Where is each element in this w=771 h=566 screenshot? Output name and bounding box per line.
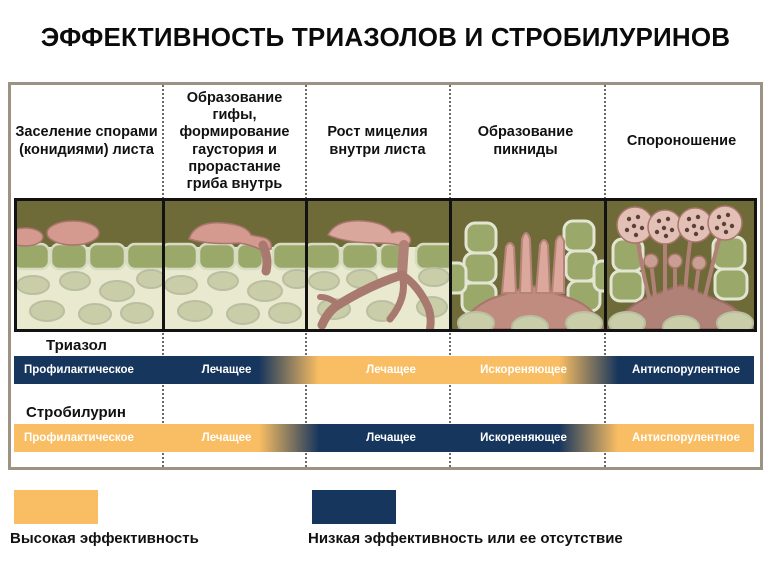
leaf-illustration-strip (14, 198, 757, 332)
segment-strobilurin-2: Лечащее (176, 424, 319, 452)
segment-strobilurin-5-label: Антиспорулентное (632, 432, 740, 444)
effect-bar-triazol: Профилактическое Лечащее Лечащее Искорен… (14, 356, 754, 384)
stage-header-1: Заселение спорами (конидиями) листа (11, 85, 162, 198)
segment-strobilurin-3: Лечащее (319, 424, 463, 452)
segment-triazol-2-label: Лечащее (202, 364, 252, 376)
segment-strobilurin-1: Профилактическое (14, 424, 176, 452)
segment-strobilurin-4: Искореняющее (463, 424, 618, 452)
segment-triazol-4-label: Искореняющее (480, 364, 567, 376)
segment-strobilurin-5: Антиспорулентное (618, 424, 754, 452)
segment-triazol-3: Лечащее (319, 356, 463, 384)
segment-triazol-3-label: Лечащее (366, 364, 416, 376)
stage-header-4: Образование пикниды (450, 85, 601, 198)
segment-strobilurin-3-label: Лечащее (366, 432, 416, 444)
segment-triazol-1: Профилактическое (14, 356, 176, 384)
legend-swatch-low (312, 490, 396, 524)
segment-triazol-5-label: Антиспорулентное (632, 364, 740, 376)
legend-label-low: Низкая эффективность или ее отсутствие (308, 530, 623, 547)
segment-triazol-2: Лечащее (176, 356, 319, 384)
illustration-stage-3 (308, 201, 452, 329)
illustration-stage-1 (17, 201, 165, 329)
legend-swatch-high (14, 490, 98, 524)
page-title: ЭФФЕКТИВНОСТЬ ТРИАЗОЛОВ И СТРОБИЛУРИНОВ (0, 22, 771, 53)
segment-strobilurin-1-label: Профилактическое (24, 432, 134, 444)
legend-label-high: Высокая эффективность (10, 530, 199, 547)
effect-bar-strobilurin: Профилактическое Лечащее Лечащее Искорен… (14, 424, 754, 452)
row-label-strobilurin: Стробилурин (26, 404, 126, 421)
segment-strobilurin-4-label: Искореняющее (480, 432, 567, 444)
stage-header-row: Заселение спорами (конидиями) листа Обра… (11, 85, 760, 198)
stage-header-3: Рост мицелия внутри листа (307, 85, 448, 198)
illustration-stage-5 (607, 201, 754, 329)
spore-knob (644, 254, 706, 270)
segment-triazol-1-label: Профилактическое (24, 364, 134, 376)
segment-strobilurin-2-label: Лечащее (202, 432, 252, 444)
illustration-stage-4 (452, 201, 607, 329)
row-label-triazol: Триазол (46, 337, 107, 354)
infographic-root: ЭФФЕКТИВНОСТЬ ТРИАЗОЛОВ И СТРОБИЛУРИНОВ … (0, 0, 771, 566)
illustration-stage-2 (165, 201, 308, 329)
stage-header-5: Спороношение (603, 85, 760, 198)
stage-header-2: Образование гифы, формирование гаустория… (164, 85, 305, 198)
segment-triazol-5: Антиспорулентное (618, 356, 754, 384)
segment-triazol-4: Искореняющее (463, 356, 618, 384)
